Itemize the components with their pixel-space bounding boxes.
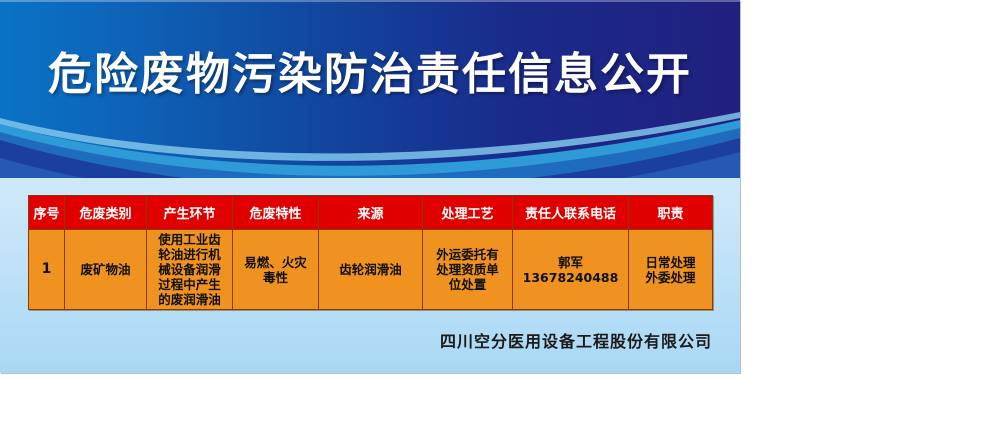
cell-duty: 日常处理 外委处理: [629, 230, 713, 310]
cell-generation-stage: 使用工业齿 轮油进行机 械设备润滑 过程中产生 的废润滑油: [147, 230, 233, 310]
column-header-characteristics: 危废特性: [233, 196, 319, 230]
table-header-row: 序号 危废类别 产生环节 危废特性 来源 处理工艺 责任人联系电话 职责: [29, 196, 713, 230]
cell-contact: 郭军 13678240488: [513, 230, 629, 310]
cell-generation-stage-text: 使用工业齿 轮油进行机 械设备润滑 过程中产生 的废润滑油: [149, 232, 230, 307]
cell-duty-text: 日常处理 外委处理: [631, 255, 710, 285]
column-header-generation-stage: 产生环节: [147, 196, 233, 230]
column-header-index: 序号: [29, 196, 65, 230]
column-header-contact: 责任人联系电话: [513, 196, 629, 230]
column-header-category: 危废类别: [65, 196, 147, 230]
cell-characteristics-text: 易燃、火灾 毒性: [235, 255, 316, 285]
company-name: 四川空分医用设备工程股份有限公司: [0, 328, 712, 352]
hazardous-waste-table: 序号 危废类别 产生环节 危废特性 来源 处理工艺 责任人联系电话 职责 1 废…: [28, 195, 713, 310]
poster-banner: 危险废物污染防治责任信息公开: [0, 0, 740, 178]
cell-category: 废矿物油: [65, 230, 147, 310]
information-disclosure-poster: 危险废物污染防治责任信息公开 序号 危废类别 产生环节 危废特性 来源 处理工艺…: [0, 0, 740, 373]
cell-index-text: 1: [31, 262, 62, 277]
cell-contact-text: 郭军 13678240488: [515, 255, 626, 285]
cell-source: 齿轮润滑油: [319, 230, 423, 310]
page-title: 危险废物污染防治责任信息公开: [0, 48, 740, 102]
column-header-source: 来源: [319, 196, 423, 230]
table-row: 1 废矿物油 使用工业齿 轮油进行机 械设备润滑 过程中产生 的废润滑油 易燃、…: [29, 230, 713, 310]
cell-source-text: 齿轮润滑油: [321, 262, 420, 277]
cell-characteristics: 易燃、火灾 毒性: [233, 230, 319, 310]
cell-category-text: 废矿物油: [67, 262, 144, 277]
column-header-duty: 职责: [629, 196, 713, 230]
column-header-treatment: 处理工艺: [423, 196, 513, 230]
cell-treatment: 外运委托有 处理资质单 位处置: [423, 230, 513, 310]
cell-treatment-text: 外运委托有 处理资质单 位处置: [425, 247, 510, 292]
cell-index: 1: [29, 230, 65, 310]
